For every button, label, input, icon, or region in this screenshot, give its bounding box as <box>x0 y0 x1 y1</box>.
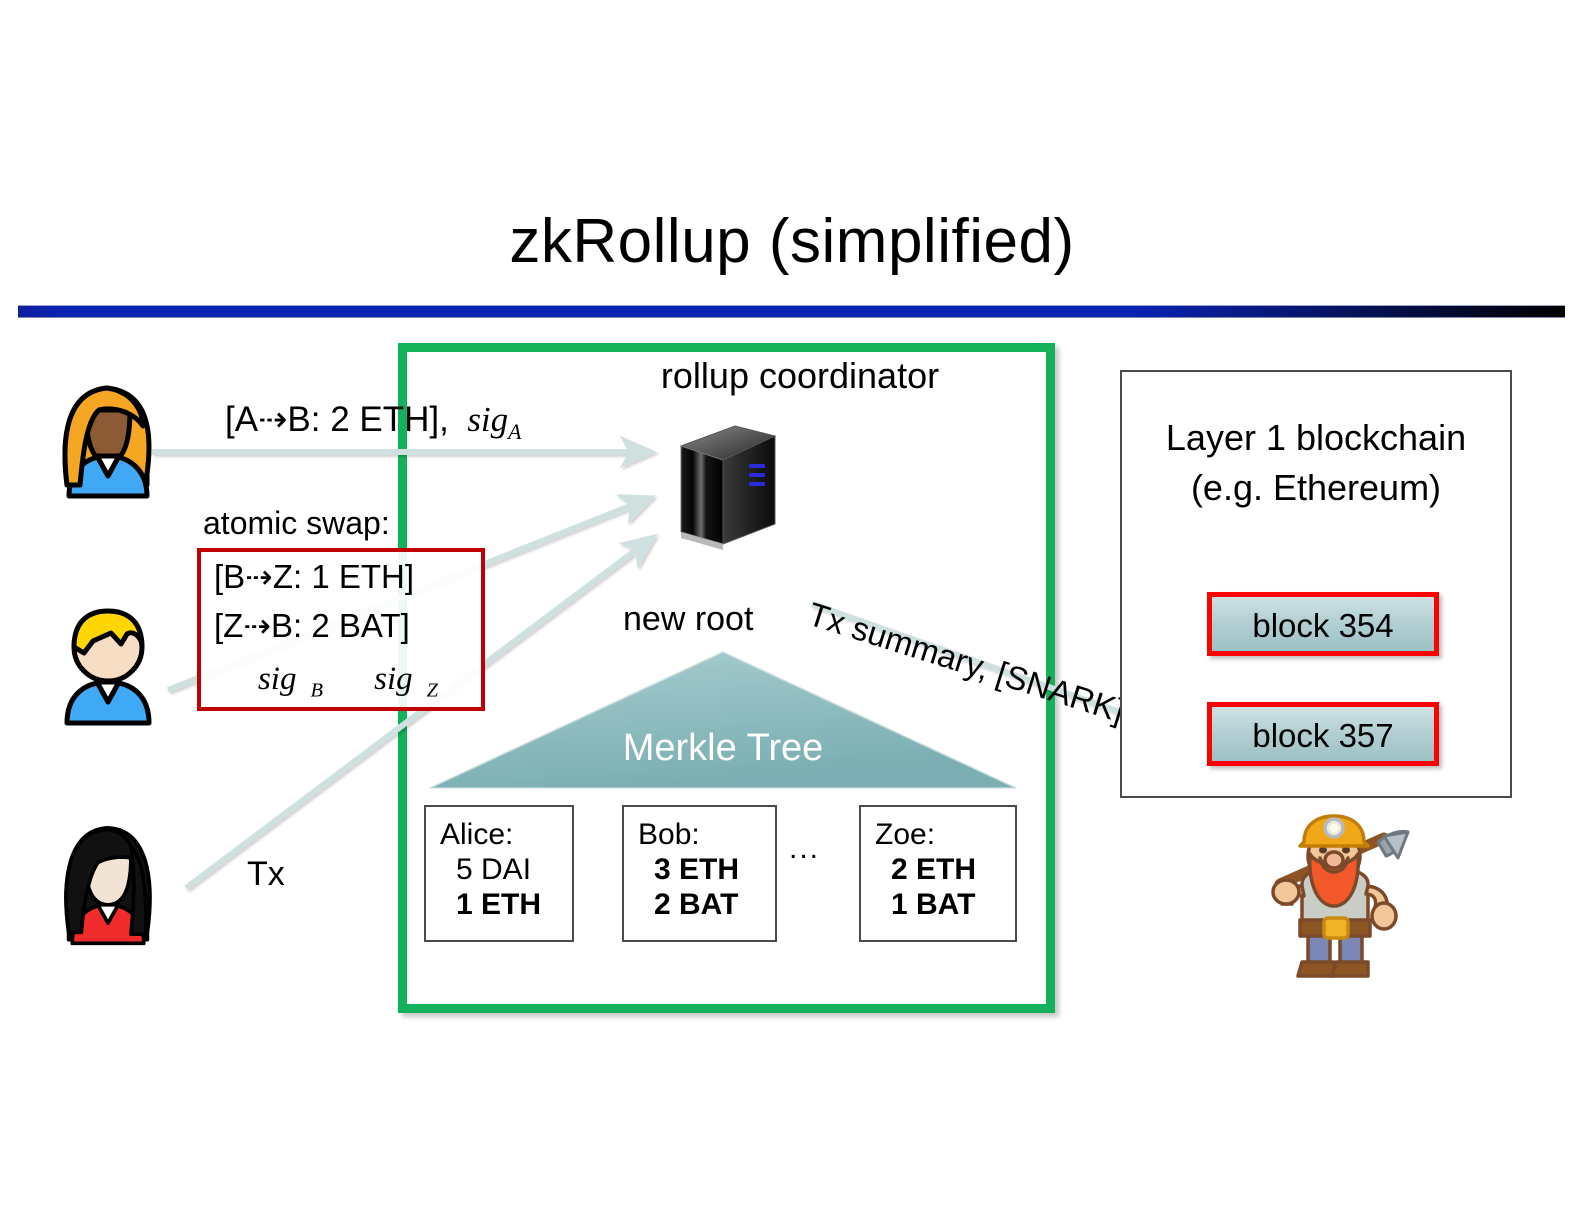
rollup-coordinator-label: rollup coordinator <box>600 355 1000 397</box>
sig-b-label: sigB <box>244 661 323 697</box>
miner-dwarf-icon <box>1258 812 1410 984</box>
merkle-tree-triangle <box>428 650 1018 792</box>
layer1-title: Layer 1 blockchain (e.g. Ethereum) <box>1120 413 1512 513</box>
new-root-label: new root <box>623 600 753 639</box>
account-balance: 2 BAT <box>624 887 775 922</box>
zoe-avatar <box>47 815 169 947</box>
swap-line-1: [B⇢Z: 1 ETH] <box>201 552 481 601</box>
account-box-bob: Bob: 3 ETH 2 BAT <box>622 805 777 942</box>
server-tower-icon <box>673 420 781 550</box>
sig-z-label: sigZ <box>360 661 438 697</box>
tx-label: Tx <box>247 855 285 894</box>
bob-avatar <box>47 597 169 729</box>
tx-a-text: [A⇢B: 2 ETH], <box>225 400 449 439</box>
account-balance: 1 BAT <box>861 887 1015 922</box>
account-balance: 5 DAI <box>426 852 572 887</box>
title-divider <box>18 305 1565 318</box>
account-name: Alice: <box>426 817 572 852</box>
page-title: zkRollup (simplified) <box>0 206 1584 277</box>
layer1-title-line-1: Layer 1 blockchain <box>1120 413 1512 463</box>
account-balance: 3 ETH <box>624 852 775 887</box>
alice-avatar <box>47 370 169 502</box>
account-name: Bob: <box>624 817 775 852</box>
account-box-alice: Alice: 5 DAI 1 ETH <box>424 805 574 942</box>
account-name: Zoe: <box>861 817 1015 852</box>
accounts-ellipsis: ... <box>789 832 820 866</box>
swap-line-2: [Z⇢B: 2 BAT] <box>201 601 481 650</box>
block-chip-354[interactable]: block 354 <box>1207 592 1439 656</box>
atomic-swap-label: atomic swap: <box>203 505 390 542</box>
account-box-zoe: Zoe: 2 ETH 1 BAT <box>859 805 1017 942</box>
merkle-tree-label: Merkle Tree <box>428 727 1018 770</box>
sig-a-label: sigA <box>459 400 522 439</box>
account-balance: 2 ETH <box>861 852 1015 887</box>
tx-a-message: [A⇢B: 2 ETH], sigA <box>225 400 521 445</box>
block-chip-357[interactable]: block 357 <box>1207 702 1439 766</box>
slide-canvas: zkRollup (simplified) <box>0 0 1584 1224</box>
layer1-title-line-2: (e.g. Ethereum) <box>1120 463 1512 513</box>
account-balance: 1 ETH <box>426 887 572 922</box>
